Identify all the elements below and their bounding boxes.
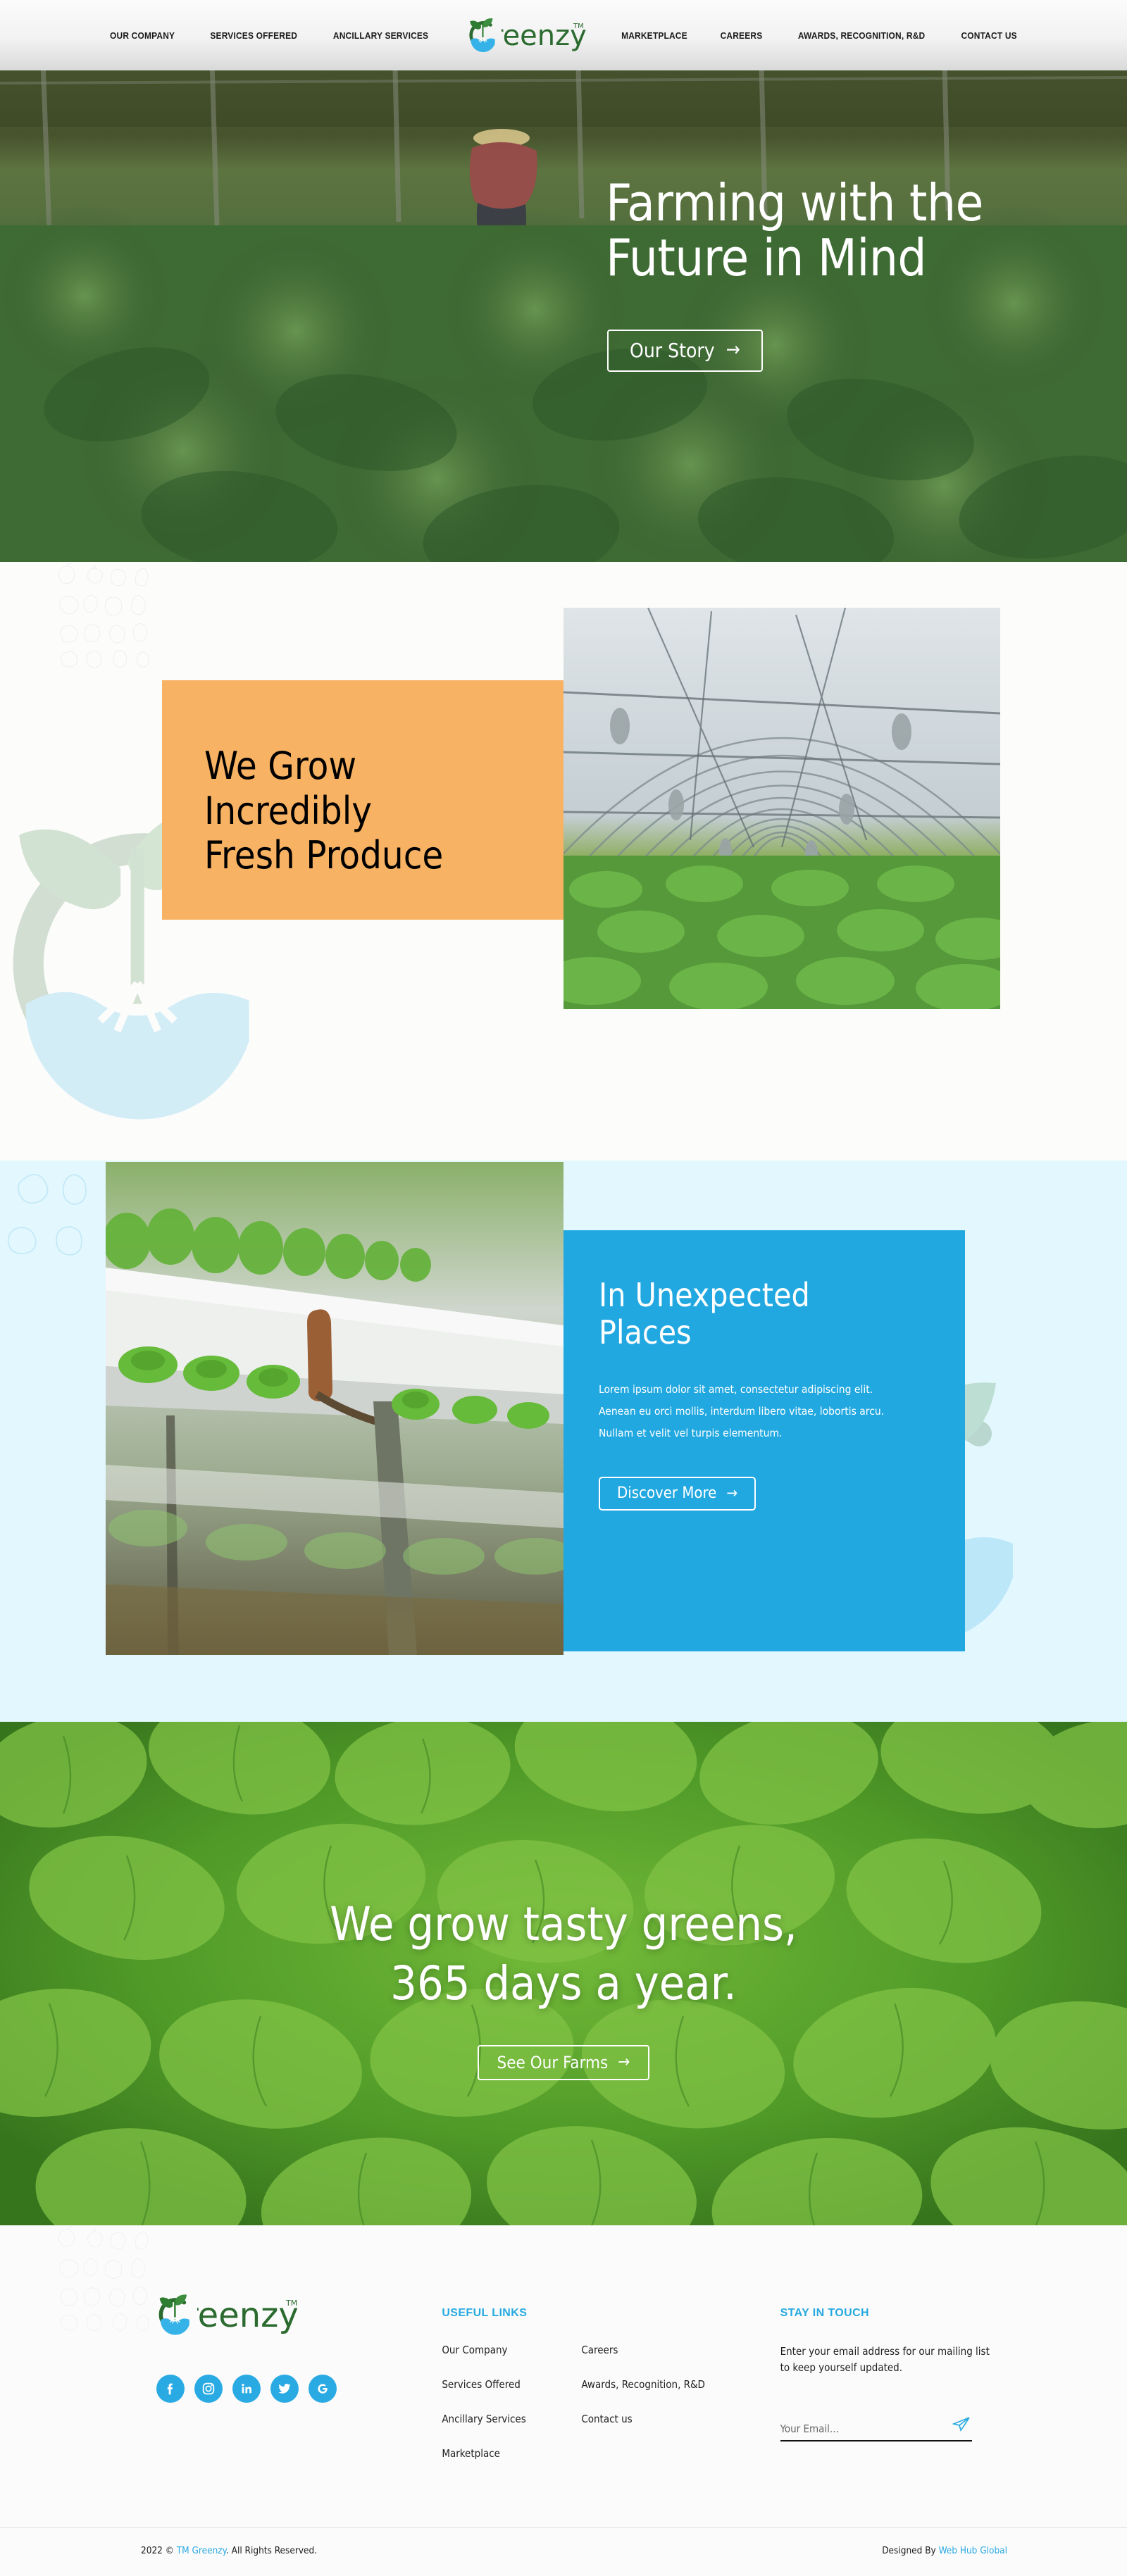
greenzy-sprout-logo-icon-footer: [154, 2293, 197, 2337]
copyright-prefix: 2022 ©: [141, 2545, 177, 2556]
footer-bottom-bar: 2022 © TM Greenzy. All Rights Reserved. …: [0, 2527, 1127, 2576]
svg-text:reenzy: reenzy: [197, 2296, 299, 2335]
we-grow-title-line-1: We Grow: [204, 744, 571, 789]
top-navigation: OUR COMPANY SERVICES OFFERED ANCILLARY S…: [0, 0, 1127, 70]
useful-links-heading: USEFUL LINKS: [442, 2307, 722, 2320]
stay-in-touch-text: Enter your email address for our mailing…: [780, 2344, 992, 2377]
see-our-farms-label: See Our Farms: [497, 2054, 609, 2071]
newsletter-form: [780, 2416, 972, 2441]
places-title-line-2: Places: [599, 1313, 692, 1351]
tasty-greens-cta-section: We grow tasty greens, 365 days a year. S…: [0, 1722, 1127, 2225]
hero-title: Farming with the Future in Mind: [606, 176, 1071, 286]
cta-title: We grow tasty greens, 365 days a year.: [330, 1895, 797, 2012]
svg-text:TM: TM: [573, 23, 584, 30]
paper-plane-icon: [952, 2416, 971, 2432]
arrow-right-icon-2: →: [726, 1486, 737, 1501]
cta-title-line-2: 365 days a year.: [390, 1956, 737, 2011]
cta-title-line-1: We grow tasty greens,: [330, 1897, 797, 1951]
footer-useful-links: USEFUL LINKS Our Company Services Offere…: [442, 2293, 722, 2460]
unexpected-places-section: In Unexpected Places Lorem ipsum dolor s…: [0, 1161, 1127, 1722]
designer-link[interactable]: Web Hub Global: [939, 2545, 1007, 2556]
footer-link-our-company[interactable]: Our Company: [442, 2344, 561, 2356]
hero-section: Farming with the Future in Mind Our Stor…: [0, 0, 1127, 562]
footer-link-marketplace[interactable]: Marketplace: [442, 2447, 561, 2460]
svg-text:TM: TM: [285, 2299, 297, 2308]
nav-left-group: OUR COMPANY SERVICES OFFERED ANCILLARY S…: [93, 30, 447, 41]
we-grow-title: We Grow Incredibly Fresh Produce: [204, 744, 571, 878]
nav-careers[interactable]: CAREERS: [707, 30, 776, 41]
page-root: OUR COMPANY SERVICES OFFERED ANCILLARY S…: [0, 0, 1127, 2576]
hydroponic-trays-image: [106, 1162, 563, 1655]
social-links: [156, 2375, 408, 2403]
google-icon[interactable]: [309, 2375, 337, 2403]
greenhouse-interior-image: [563, 608, 1000, 1009]
cta-content: We grow tasty greens, 365 days a year. S…: [330, 1895, 797, 2080]
footer-link-services-offered[interactable]: Services Offered: [442, 2378, 561, 2391]
nav-right-group: MARKETPLACE CAREERS AWARDS, RECOGNITION,…: [604, 30, 1033, 41]
our-story-button[interactable]: Our Story →: [607, 330, 763, 372]
footer-logo[interactable]: reenzy TM: [154, 2293, 408, 2337]
we-grow-title-line-2: Incredibly: [204, 789, 571, 834]
discover-more-button[interactable]: Discover More →: [599, 1477, 756, 1511]
hero-title-line-1: Farming with the: [606, 173, 983, 232]
nav-services-offered[interactable]: SERVICES OFFERED: [197, 30, 310, 41]
unexpected-places-body: Lorem ipsum dolor sit amet, consectetur …: [599, 1379, 902, 1444]
nav-ancillary-services[interactable]: ANCILLARY SERVICES: [320, 30, 442, 41]
greenzy-wordmark: reenzy TM: [502, 17, 586, 54]
nav-marketplace[interactable]: MARKETPLACE: [609, 30, 701, 41]
nav-awards[interactable]: AWARDS, RECOGNITION, R&D: [785, 30, 938, 41]
designed-by-prefix: Designed By: [882, 2545, 938, 2556]
newsletter-submit-button[interactable]: [952, 2416, 972, 2435]
facebook-icon[interactable]: [156, 2375, 185, 2403]
see-our-farms-button[interactable]: See Our Farms →: [478, 2045, 650, 2080]
designed-by-text: Designed By Web Hub Global: [882, 2545, 1007, 2556]
hero-title-line-2: Future in Mind: [606, 228, 926, 287]
footer-link-awards[interactable]: Awards, Recognition, R&D: [581, 2378, 705, 2391]
instagram-icon[interactable]: [194, 2375, 223, 2403]
our-story-label: Our Story: [630, 341, 715, 361]
arrow-right-icon: →: [726, 341, 740, 360]
copyright-suffix: . All Rights Reserved.: [226, 2545, 317, 2556]
footer-link-contact-us[interactable]: Contact us: [581, 2413, 705, 2425]
greenzy-wordmark-footer: reenzy TM: [197, 2293, 303, 2337]
greenzy-logo[interactable]: reenzy TM: [465, 17, 586, 54]
linkedin-icon[interactable]: [232, 2375, 261, 2403]
copyright-text: 2022 © TM Greenzy. All Rights Reserved.: [141, 2545, 317, 2556]
footer-link-ancillary-services[interactable]: Ancillary Services: [442, 2413, 561, 2425]
footer-brand: reenzy TM: [141, 2293, 408, 2460]
nav-our-company[interactable]: OUR COMPANY: [97, 30, 188, 41]
useful-links-column-b: Careers Awards, Recognition, R&D Contact…: [581, 2344, 705, 2460]
greenzy-sprout-logo-icon: [465, 17, 502, 54]
discover-more-label: Discover More: [617, 1486, 716, 1501]
copyright-brand-link[interactable]: TM Greenzy: [177, 2545, 226, 2556]
hero-content: Farming with the Future in Mind Our Stor…: [606, 176, 1071, 372]
stay-in-touch-heading: STAY IN TOUCH: [780, 2307, 1007, 2320]
unexpected-places-content: In Unexpected Places Lorem ipsum dolor s…: [599, 1277, 930, 1511]
footer-stay-in-touch: STAY IN TOUCH Enter your email address f…: [780, 2293, 1007, 2460]
footer-link-careers[interactable]: Careers: [581, 2344, 705, 2356]
unexpected-places-title: In Unexpected Places: [599, 1277, 930, 1352]
useful-links-column-a: Our Company Services Offered Ancillary S…: [442, 2344, 561, 2460]
twitter-icon[interactable]: [270, 2375, 299, 2403]
we-grow-title-line-3: Fresh Produce: [204, 833, 571, 878]
vegetable-pattern-background: [0, 562, 211, 668]
nav-contact-us[interactable]: CONTACT US: [948, 30, 1030, 41]
email-input[interactable]: [780, 2422, 921, 2435]
we-grow-section: We Grow Incredibly Fresh Produce: [0, 562, 1127, 1161]
site-footer: reenzy TM: [0, 2225, 1127, 2576]
places-title-line-1: In Unexpected: [599, 1276, 810, 1314]
arrow-right-icon-3: →: [618, 2054, 630, 2070]
